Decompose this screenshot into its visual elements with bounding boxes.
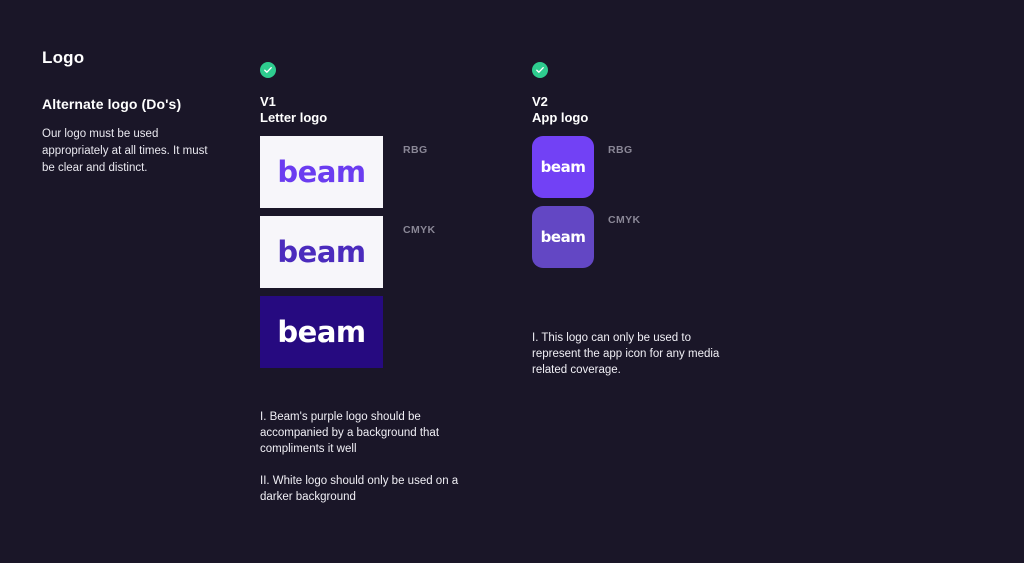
check-circle-icon xyxy=(260,62,276,78)
logo-card-rbg: beam xyxy=(260,136,383,208)
variant-kind-v2: App logo xyxy=(532,110,762,126)
app-icon-specimen-row: beam RBG xyxy=(532,136,762,198)
variant-name-v2: V2 xyxy=(532,94,762,110)
beam-wordmark: beam xyxy=(277,238,365,267)
color-mode-label: CMYK xyxy=(403,224,436,236)
check-circle-icon xyxy=(532,62,548,78)
color-mode-label: CMYK xyxy=(608,214,641,226)
logo-card-cmyk: beam xyxy=(260,216,383,288)
usage-note: II. White logo should only be used on a … xyxy=(260,473,475,505)
app-icon-specimen-row: beam CMYK xyxy=(532,206,762,268)
usage-notes-v2: I. This logo can only be used to represe… xyxy=(532,330,722,378)
usage-notes-v1: I. Beam's purple logo should be accompan… xyxy=(260,409,475,505)
app-icon-cmyk: beam xyxy=(532,206,594,268)
usage-note: I. This logo can only be used to represe… xyxy=(532,330,722,378)
variant-column-v1: V1 Letter logo beam RBG beam CMYK beam xyxy=(260,62,490,368)
beam-wordmark: beam xyxy=(277,158,365,187)
intro-body-text: Our logo must be used appropriately at a… xyxy=(42,126,222,177)
logo-specimen-row: beam RBG xyxy=(260,136,490,208)
color-mode-label: RBG xyxy=(608,144,633,156)
intro-column: Logo Alternate logo (Do's) Our logo must… xyxy=(42,48,222,177)
variant-kind-v1: Letter logo xyxy=(260,110,490,126)
logo-specimen-row: beam xyxy=(260,296,490,368)
subsection-title: Alternate logo (Do's) xyxy=(42,96,222,112)
beam-wordmark: beam xyxy=(277,318,365,347)
variant-column-v2: V2 App logo beam RBG beam CMYK xyxy=(532,62,762,268)
logo-guidelines-page: Logo Alternate logo (Do's) Our logo must… xyxy=(0,0,1024,563)
beam-wordmark: beam xyxy=(541,160,586,175)
beam-wordmark: beam xyxy=(541,230,586,245)
app-icon-rbg: beam xyxy=(532,136,594,198)
logo-card-dark: beam xyxy=(260,296,383,368)
color-mode-label: RBG xyxy=(403,144,428,156)
logo-specimen-row: beam CMYK xyxy=(260,216,490,288)
variant-name-v1: V1 xyxy=(260,94,490,110)
page-title: Logo xyxy=(42,48,222,68)
usage-note: I. Beam's purple logo should be accompan… xyxy=(260,409,475,457)
